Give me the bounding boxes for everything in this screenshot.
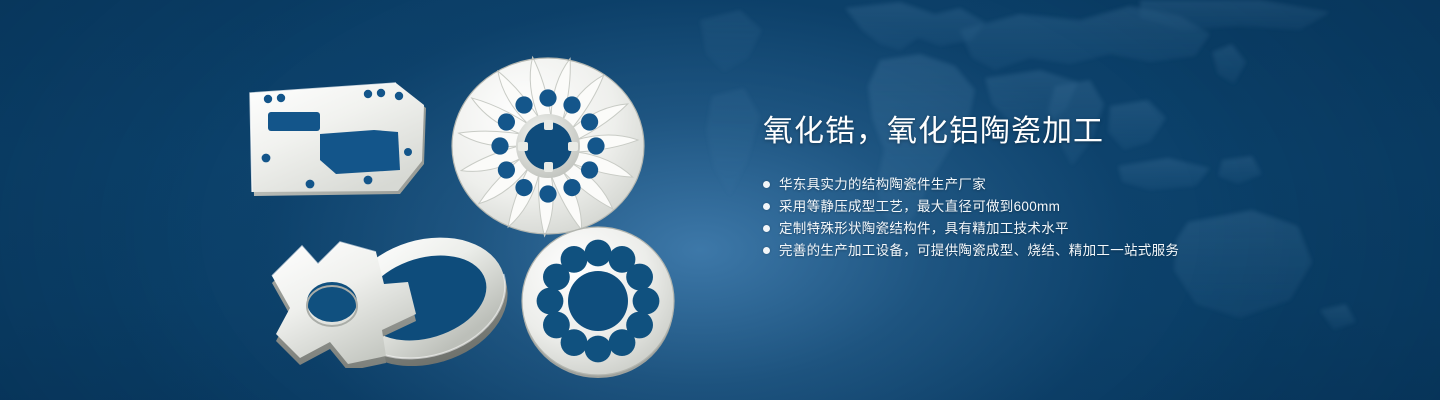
bullet-dot-icon (763, 181, 770, 188)
ceramic-impeller-image (448, 46, 648, 242)
list-item: 采用等静压成型工艺，最大直径可做到600mm (763, 196, 1323, 217)
list-item: 完善的生产加工设备，可提供陶瓷成型、烧结、精加工一站式服务 (763, 240, 1323, 261)
bullet-dot-icon (763, 225, 770, 232)
list-item: 华东具实力的结构陶瓷件生产厂家 (763, 174, 1323, 195)
feature-text: 完善的生产加工设备，可提供陶瓷成型、烧结、精加工一站式服务 (779, 240, 1179, 261)
product-photo-group (0, 0, 760, 400)
hero-banner: 氧化锆，氧化铝陶瓷加工 华东具实力的结构陶瓷件生产厂家 采用等静压成型工艺，最大… (0, 0, 1440, 400)
banner-text-column: 氧化锆，氧化铝陶瓷加工 华东具实力的结构陶瓷件生产厂家 采用等静压成型工艺，最大… (763, 112, 1323, 262)
feature-list: 华东具实力的结构陶瓷件生产厂家 采用等静压成型工艺，最大直径可做到600mm 定… (763, 174, 1323, 261)
feature-text: 采用等静压成型工艺，最大直径可做到600mm (779, 196, 1060, 217)
feature-text: 定制特殊形状陶瓷结构件，具有精加工技术水平 (779, 218, 1069, 239)
banner-headline: 氧化锆，氧化铝陶瓷加工 (763, 112, 1323, 152)
bullet-dot-icon (763, 247, 770, 254)
ceramic-disc-image (518, 222, 678, 380)
ceramic-plate-image (248, 78, 428, 200)
feature-text: 华东具实力的结构陶瓷件生产厂家 (779, 174, 986, 195)
bullet-dot-icon (763, 203, 770, 210)
ceramic-cross-image (252, 228, 442, 368)
list-item: 定制特殊形状陶瓷结构件，具有精加工技术水平 (763, 218, 1323, 239)
